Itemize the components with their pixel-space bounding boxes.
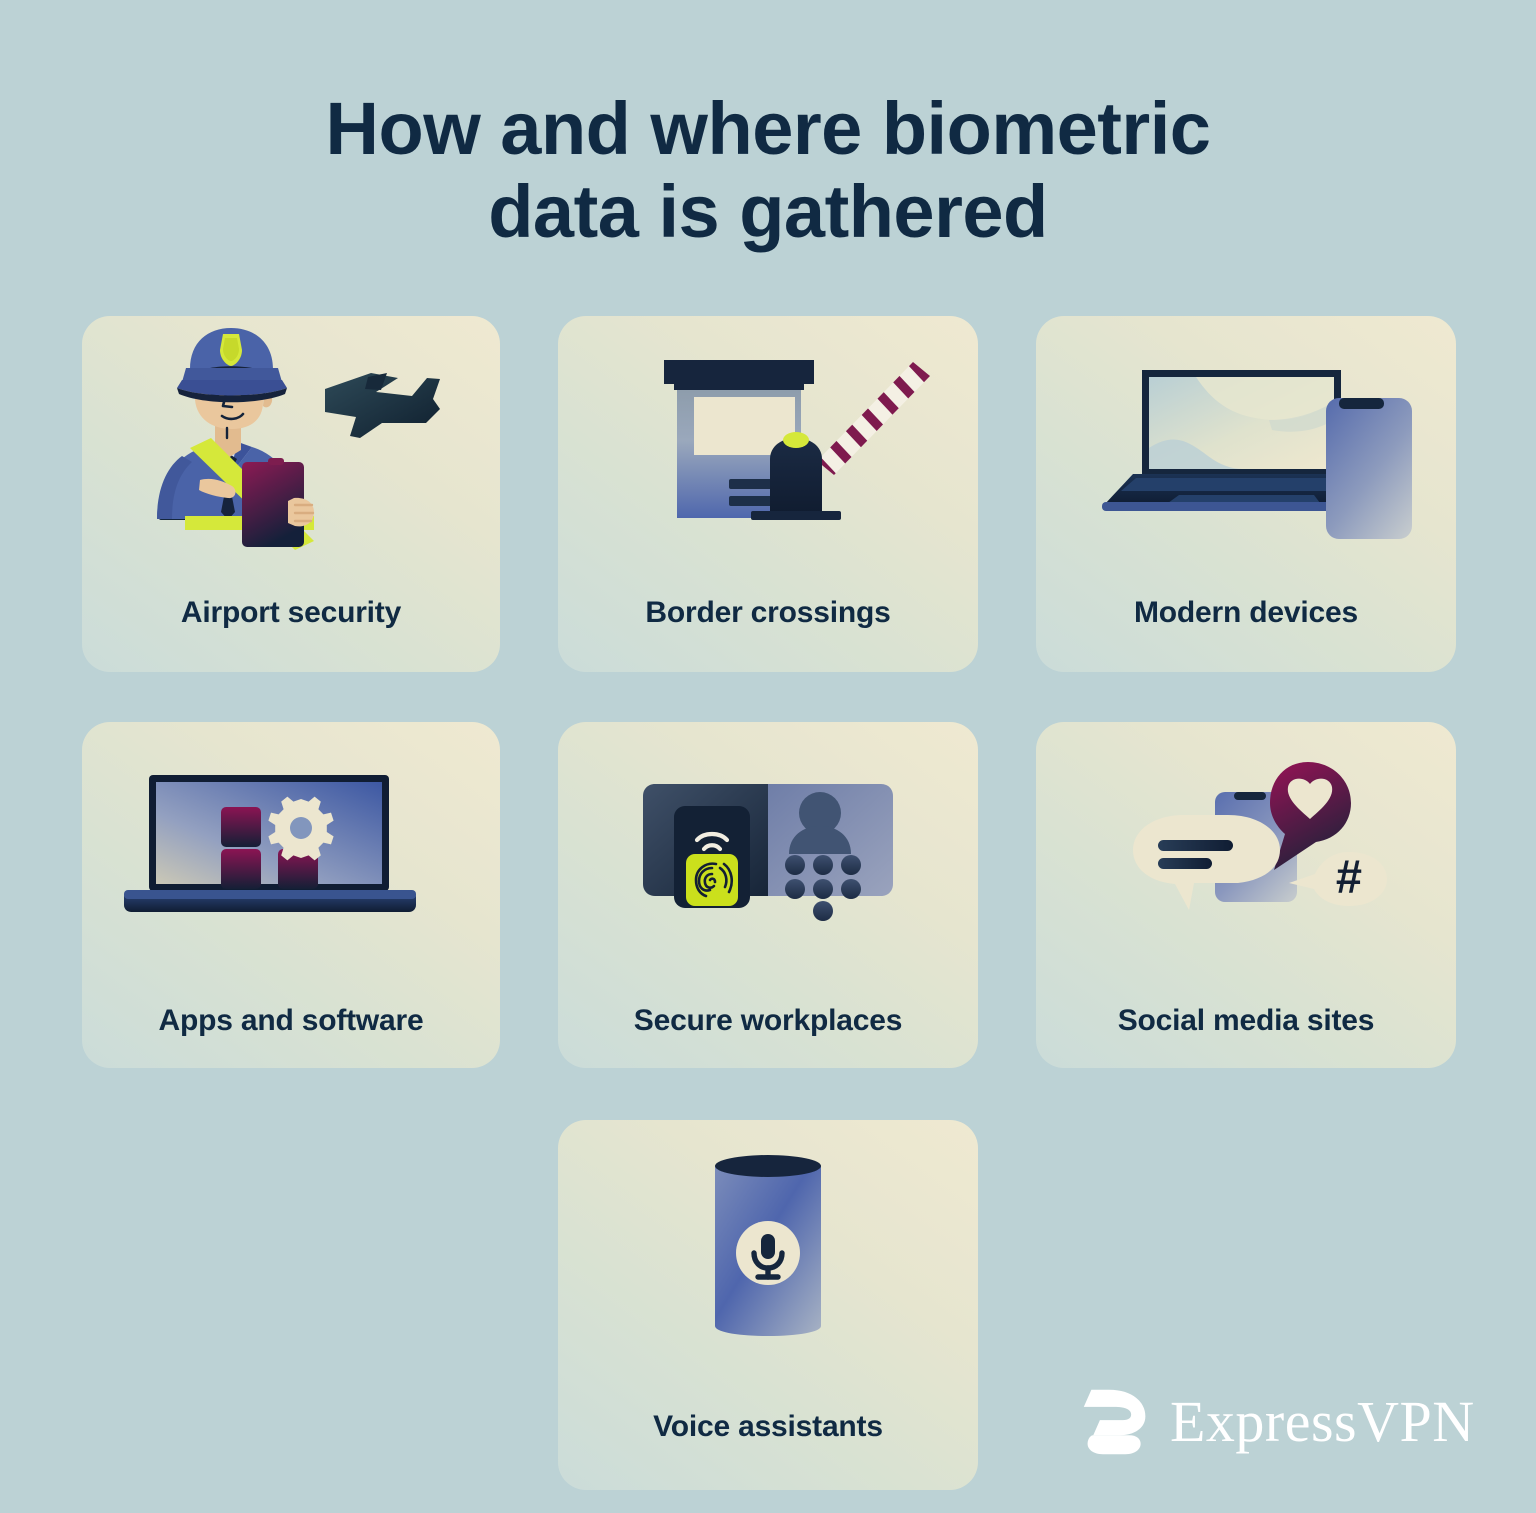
airport-security-illustration	[82, 316, 500, 579]
barrier-arm-icon	[804, 350, 930, 478]
card-social-media-sites: # Social media sites	[1036, 722, 1456, 1068]
expressvpn-logo: ExpressVPN	[1078, 1384, 1438, 1460]
card-label-voice-assistants: Voice assistants	[558, 1410, 978, 1444]
airplane-icon	[325, 373, 440, 438]
svg-text:#: #	[1336, 850, 1362, 903]
smartphone-icon	[1326, 398, 1412, 539]
card-modern-devices: Modern devices	[1036, 316, 1456, 672]
social-media-illustration: #	[1036, 722, 1456, 978]
modern-devices-illustration	[1036, 316, 1456, 579]
smart-speaker-microphone-icon	[558, 1120, 978, 1394]
laptop-phone-icon	[1036, 316, 1456, 580]
apps-and-software-illustration	[82, 722, 500, 978]
expressvpn-e-logo-icon	[1078, 1386, 1154, 1458]
card-label-border-crossings: Border crossings	[558, 596, 978, 630]
border-crossings-illustration	[558, 316, 978, 579]
phone-chat-heart-hashtag-icon: #	[1036, 722, 1456, 978]
card-label-apps-and-software: Apps and software	[82, 1004, 500, 1038]
laptop-app-tiles-gear-icon	[82, 722, 500, 978]
expressvpn-wordmark: ExpressVPN	[1170, 1393, 1475, 1451]
voice-assistants-illustration	[558, 1120, 978, 1394]
secure-workplaces-illustration	[558, 722, 978, 978]
card-secure-workplaces: Secure workplaces	[558, 722, 978, 1068]
keypad-icon	[785, 855, 861, 921]
border-checkpoint-barrier-icon	[558, 316, 978, 580]
card-border-crossings: Border crossings	[558, 316, 978, 672]
hashtag-bubble-icon: #	[1289, 850, 1387, 906]
infographic-page: How and where biometric data is gathered	[0, 0, 1536, 1513]
card-apps-and-software: Apps and software	[82, 722, 500, 1068]
card-label-secure-workplaces: Secure workplaces	[558, 1004, 978, 1038]
police-cap-icon	[177, 328, 287, 402]
card-voice-assistants: Voice assistants	[558, 1120, 978, 1490]
cards-grid: Airport security	[0, 0, 1536, 1513]
card-airport-security: Airport security	[82, 316, 500, 672]
card-label-social-media-sites: Social media sites	[1036, 1004, 1456, 1038]
police-officer-airplane-icon	[82, 316, 500, 580]
fingerprint-access-panel-icon	[558, 722, 978, 978]
card-label-modern-devices: Modern devices	[1036, 596, 1456, 630]
card-label-airport-security: Airport security	[82, 596, 500, 630]
